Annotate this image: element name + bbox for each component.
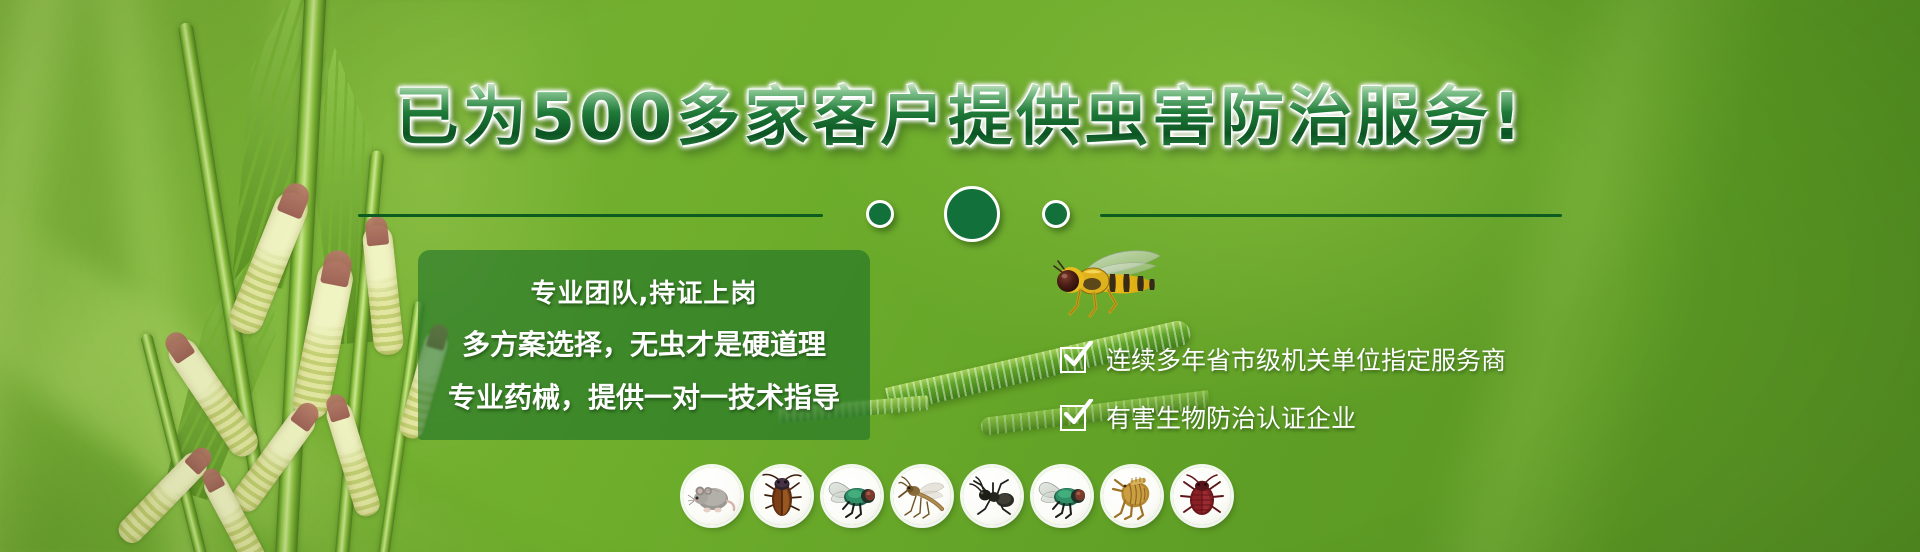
cockroach-icon[interactable] <box>753 467 811 525</box>
fly-icon[interactable] <box>1033 467 1091 525</box>
promo-banner: 已为500多家客户提供虫害防治服务! <box>0 0 1920 552</box>
mosquito-icon[interactable] <box>893 467 951 525</box>
divider-dot-large-center <box>944 186 1000 242</box>
checkbox-check-icon <box>1060 402 1090 432</box>
checkbox-check-icon <box>1060 344 1090 374</box>
credential-label: 有害生物防治认证企业 <box>1106 399 1356 435</box>
feature-panel-text: 专业团队,持证上岗 多方案选择，无虫才是硬道理 专业药械，提供一对一技术指导 <box>418 250 870 440</box>
banner-headline: 已为500多家客户提供虫害防治服务! <box>0 82 1920 154</box>
feature-line-1: 专业团队,持证上岗 <box>531 273 758 310</box>
mouse-icon[interactable] <box>683 467 741 525</box>
ant-icon[interactable] <box>963 467 1021 525</box>
divider-dot-small-left <box>866 200 894 228</box>
feature-line-3: 专业药械，提供一对一技术指导 <box>448 376 840 416</box>
credential-item: 有害生物防治认证企业 <box>1060 388 1680 446</box>
divider-dots <box>856 186 1086 244</box>
credential-list: 连续多年省市级机关单位指定服务商 有害生物防治认证企业 <box>1060 330 1680 446</box>
pest-icon-row <box>683 467 1231 525</box>
divider-rule-left <box>358 214 823 217</box>
credential-label: 连续多年省市级机关单位指定服务商 <box>1106 341 1506 377</box>
feature-line-2: 多方案选择，无虫才是硬道理 <box>462 323 826 363</box>
divider-dot-small-right <box>1042 200 1070 228</box>
hoverfly-illustration <box>1040 248 1170 320</box>
divider-rule-right <box>1100 214 1562 217</box>
credential-item: 连续多年省市级机关单位指定服务商 <box>1060 330 1680 388</box>
bedbug-icon[interactable] <box>1173 467 1231 525</box>
flea-icon[interactable] <box>1103 467 1161 525</box>
fly-icon[interactable] <box>823 467 881 525</box>
